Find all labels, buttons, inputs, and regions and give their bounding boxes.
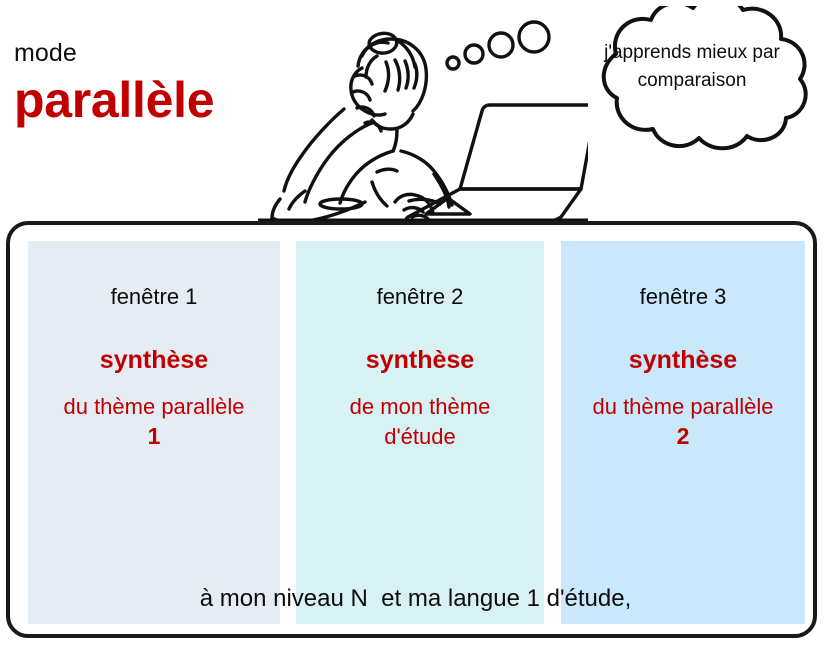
panel-2-subtitle: de mon thème d'étude — [296, 392, 544, 451]
window-panel-2[interactable]: fenêtre 2 synthèse de mon thème d'étude — [296, 241, 544, 624]
panel-2-window-label: fenêtre 2 — [296, 284, 544, 310]
panel-3-subtitle: du thème parallèle — [561, 392, 805, 422]
panel-3-heading: synthèse — [561, 345, 805, 375]
panel-3-window-label: fenêtre 3 — [561, 284, 805, 310]
header-region: mode parallèle — [0, 0, 829, 222]
page-title-small: mode — [14, 40, 284, 66]
panel-1-number: 1 — [28, 422, 280, 452]
windows-container: fenêtre 1 synthèse du thème parallèle 1 … — [6, 221, 817, 638]
student-illustration-svg — [258, 4, 588, 226]
panel-1-window-label: fenêtre 1 — [28, 284, 280, 310]
panel-1-heading: synthèse — [28, 345, 280, 375]
window-panel-1[interactable]: fenêtre 1 synthèse du thème parallèle 1 — [28, 241, 280, 624]
panel-1-body: fenêtre 1 synthèse du thème parallèle 1 — [28, 241, 280, 452]
panel-1-subtitle: du thème parallèle — [28, 392, 280, 422]
panel-2-body: fenêtre 2 synthèse de mon thème d'étude — [296, 241, 544, 452]
thought-bubble-text: j'apprends mieux par comparaison — [600, 39, 784, 94]
panel-group: fenêtre 1 synthèse du thème parallèle 1 … — [10, 225, 813, 634]
panel-2-heading: synthèse — [296, 345, 544, 375]
page-title-main: parallèle — [14, 72, 284, 130]
slide-root: mode parallèle — [0, 0, 829, 646]
thought-bubble: j'apprends mieux par comparaison — [556, 6, 828, 166]
panel-3-number: 2 — [561, 422, 805, 452]
panel-3-body: fenêtre 3 synthèse du thème parallèle 2 — [561, 241, 805, 452]
student-at-laptop-icon — [258, 4, 588, 226]
title-block: mode parallèle — [14, 40, 284, 130]
window-panel-3[interactable]: fenêtre 3 synthèse du thème parallèle 2 — [561, 241, 805, 624]
